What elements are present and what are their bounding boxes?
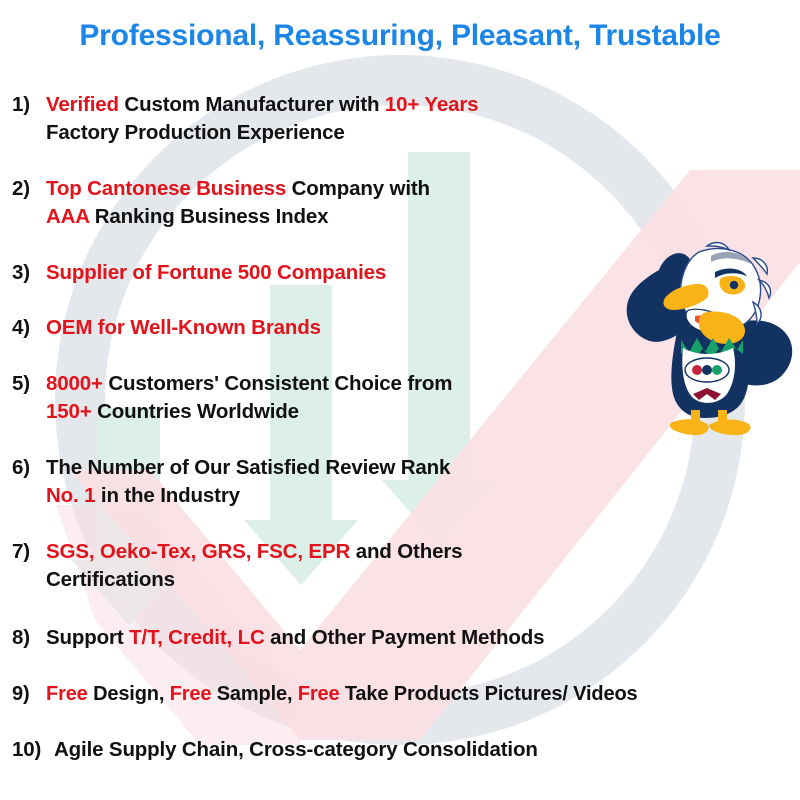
list-item-text: Agile Supply Chain, Cross-category Conso… bbox=[54, 738, 538, 761]
list-item-number: 9) bbox=[12, 680, 46, 708]
list-item-text: Design, bbox=[93, 683, 170, 705]
list-item-text: Customers' Consistent Choice from bbox=[108, 372, 452, 395]
list-item-text: Ranking Business Index bbox=[95, 205, 329, 228]
list-item-text: 150+ bbox=[46, 400, 97, 423]
list-item-text: Certifications bbox=[46, 568, 175, 591]
list-item-text: Sample, bbox=[217, 683, 298, 705]
list-item: 7)SGS, Oeko-Tex, GRS, FSC, EPR and Other… bbox=[12, 538, 462, 594]
list-item-text: No. 1 bbox=[46, 484, 101, 507]
list-item-text: The Number of Our Satisfied Review Rank bbox=[46, 456, 450, 479]
list-item: 3)Supplier of Fortune 500 Companies bbox=[12, 259, 386, 287]
list-item-text: Free bbox=[46, 683, 93, 705]
promo-banner: Professional, Reassuring, Pleasant, Trus… bbox=[0, 0, 800, 800]
list-item: 8)Support T/T, Credit, LC and Other Paym… bbox=[12, 624, 544, 652]
list-item-text: and Others bbox=[356, 540, 463, 563]
list-item: 6)The Number of Our Satisfied Review Ran… bbox=[12, 454, 450, 510]
list-item-text: T/T, Credit, LC bbox=[129, 626, 270, 649]
list-item: 4)OEM for Well-Known Brands bbox=[12, 314, 321, 342]
list-item-text: Custom Manufacturer with bbox=[124, 93, 385, 116]
list-item-number: 4) bbox=[12, 314, 46, 342]
list-item-text: Supplier of Fortune 500 Companies bbox=[46, 261, 386, 284]
list-item-number: 6) bbox=[12, 454, 46, 482]
list-item-number: 3) bbox=[12, 259, 46, 287]
list-item: 2)Top Cantonese Business Company with AA… bbox=[12, 175, 430, 231]
list-item: 9)Free Design, Free Sample, Free Take Pr… bbox=[12, 680, 638, 708]
list-item-text: Take Products Pictures/ Videos bbox=[345, 683, 638, 705]
list-item-number: 8) bbox=[12, 624, 46, 652]
list-item-text: Countries Worldwide bbox=[97, 400, 299, 423]
list-item-text: Top Cantonese Business bbox=[46, 177, 292, 200]
list-item-number: 2) bbox=[12, 175, 46, 203]
list-item-text: Free bbox=[298, 683, 345, 705]
list-item-text: and Other Payment Methods bbox=[270, 626, 544, 649]
list-item-number: 7) bbox=[12, 538, 46, 566]
list-item-text: 10+ Years bbox=[385, 93, 478, 116]
list-item-number: 10) bbox=[12, 736, 54, 764]
list-item-text: Free bbox=[170, 683, 217, 705]
list-item-text: OEM for Well-Known Brands bbox=[46, 316, 321, 339]
list-item-number: 1) bbox=[12, 91, 46, 119]
list-item-text: SGS, Oeko-Tex, GRS, FSC, EPR bbox=[46, 540, 356, 563]
list-item-text: 8000+ bbox=[46, 372, 108, 395]
list-item-text: AAA bbox=[46, 205, 95, 228]
list-item-text: Factory Production Experience bbox=[46, 121, 345, 144]
list-item: 5)8000+ Customers' Consistent Choice fro… bbox=[12, 370, 452, 426]
page-title: Professional, Reassuring, Pleasant, Trus… bbox=[0, 19, 800, 53]
list-item-number: 5) bbox=[12, 370, 46, 398]
list-item-text: Company with bbox=[292, 177, 430, 200]
list-item-text: in the Industry bbox=[101, 484, 240, 507]
list-item-text: Verified bbox=[46, 93, 124, 116]
list-item: 10)Agile Supply Chain, Cross-category Co… bbox=[12, 736, 538, 764]
list-item-text: Support bbox=[46, 626, 129, 649]
list-item: 1)Verified Custom Manufacturer with 10+ … bbox=[12, 91, 478, 147]
